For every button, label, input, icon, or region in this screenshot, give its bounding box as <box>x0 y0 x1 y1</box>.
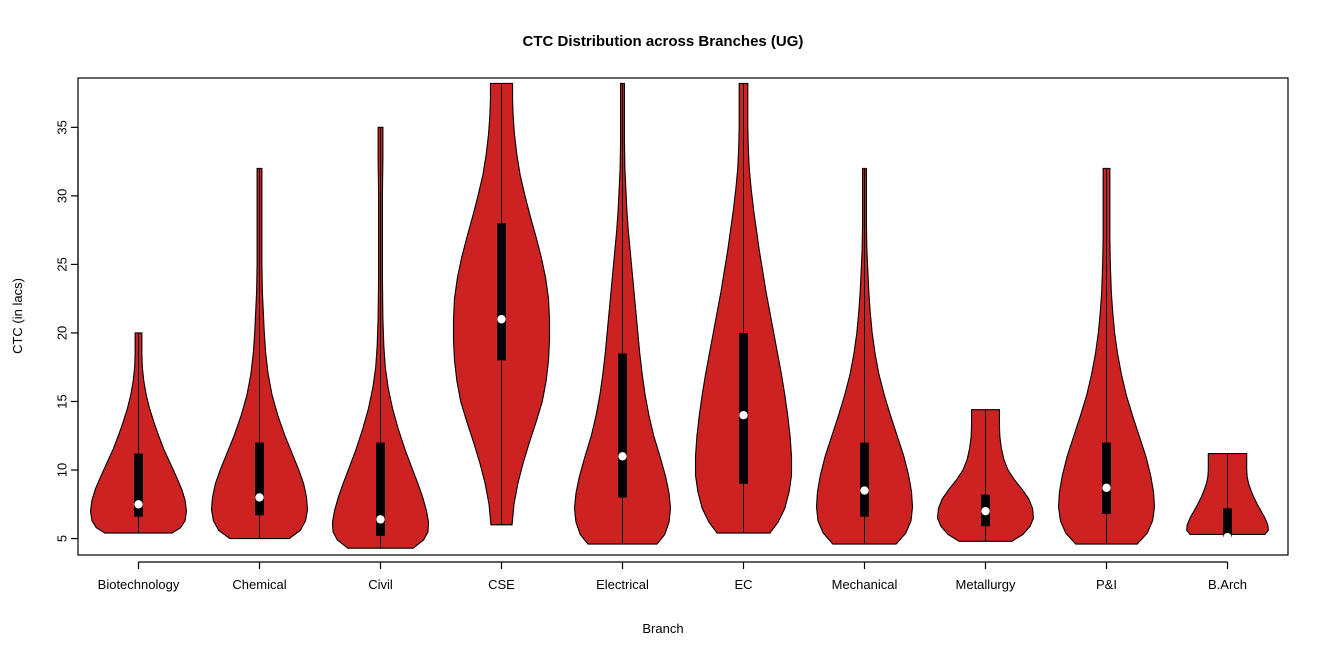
chart-title: CTC Distribution across Branches (UG) <box>523 33 804 50</box>
x-axis-tick-label: Biotechnology <box>98 577 180 592</box>
iqr-box <box>618 354 627 498</box>
x-axis-tick-label: Metallurgy <box>956 577 1016 592</box>
x-axis-tick-label: EC <box>734 577 752 592</box>
median-marker <box>134 500 142 508</box>
y-axis-tick-label: 30 <box>55 189 70 203</box>
iqr-box <box>860 443 869 517</box>
median-marker <box>497 315 505 323</box>
x-axis-tick-label: Civil <box>368 577 393 592</box>
y-axis-tick-label: 25 <box>55 257 70 271</box>
y-axis-tick-label: 5 <box>55 535 70 542</box>
median-marker <box>981 507 989 515</box>
x-axis-tick-label: Electrical <box>596 577 649 592</box>
y-axis-label: CTC (in lacs) <box>10 278 25 354</box>
median-marker <box>1223 533 1231 541</box>
x-axis-tick-label: P&I <box>1096 577 1117 592</box>
median-marker <box>255 493 263 501</box>
median-marker <box>618 452 626 460</box>
iqr-box <box>1102 443 1111 514</box>
x-axis-tick-label: Mechanical <box>832 577 898 592</box>
violin-plot-figure: CTC Distribution across Branches (UG) CT… <box>0 0 1327 653</box>
median-marker <box>1102 484 1110 492</box>
iqr-box <box>1223 508 1232 537</box>
y-axis-tick-label: 35 <box>55 120 70 134</box>
x-axis-tick-label: CSE <box>488 577 515 592</box>
median-marker <box>376 515 384 523</box>
x-axis-tick-label: Chemical <box>232 577 286 592</box>
iqr-box <box>739 333 748 484</box>
x-axis-label: Branch <box>642 621 683 636</box>
iqr-box <box>255 443 264 516</box>
x-axis-tick-label: B.Arch <box>1208 577 1247 592</box>
y-axis-tick-label: 15 <box>55 394 70 408</box>
y-axis-tick-label: 10 <box>55 463 70 477</box>
chart-canvas: CTC Distribution across Branches (UG) CT… <box>0 0 1327 653</box>
iqr-box <box>497 223 506 360</box>
median-marker <box>739 411 747 419</box>
median-marker <box>860 486 868 494</box>
y-axis-tick-label: 20 <box>55 326 70 340</box>
